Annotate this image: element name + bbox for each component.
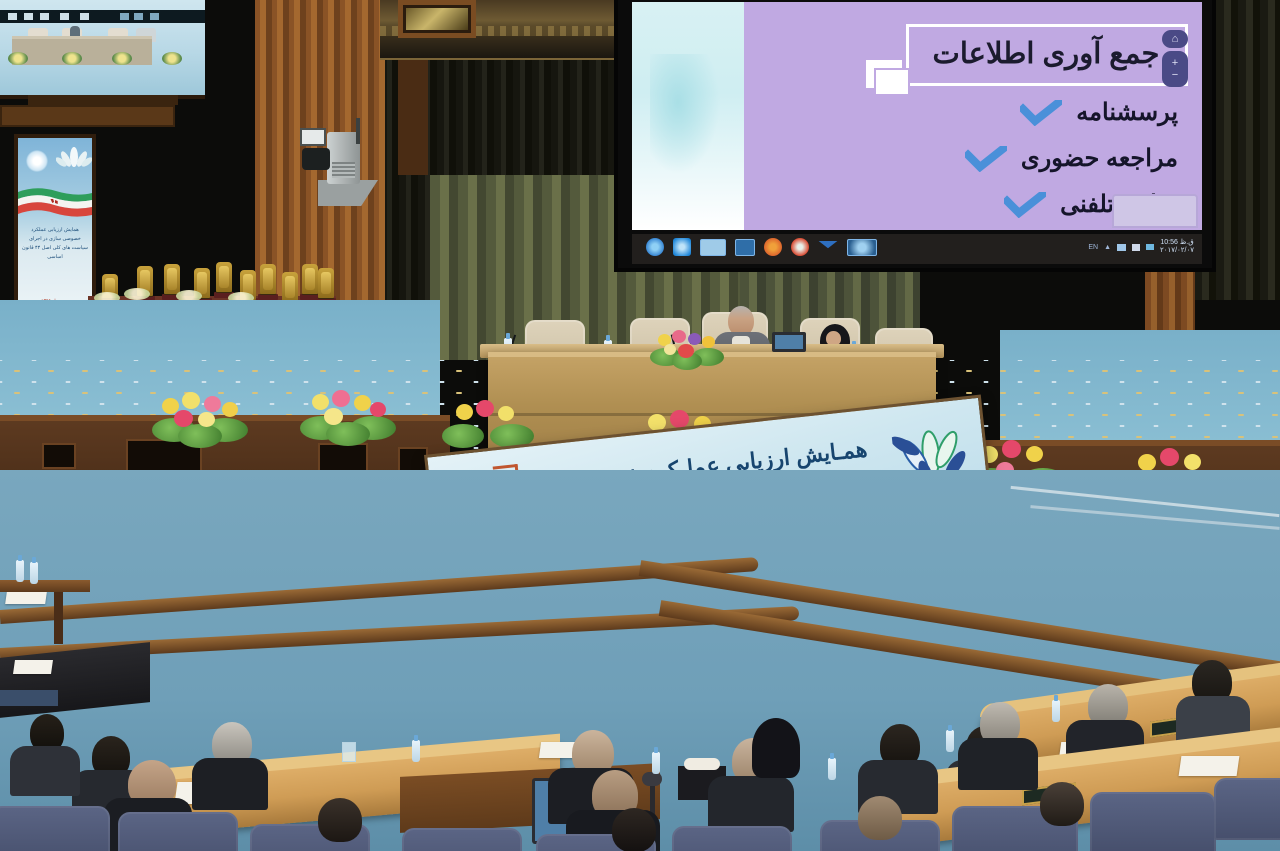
console-device <box>0 690 58 706</box>
audience-seat <box>672 826 792 851</box>
slide-decor-square-2 <box>874 68 910 96</box>
side-table <box>0 580 90 592</box>
rollup-banner: همایش ارزیابی عملکرد خصوصی سازی در اجرای… <box>14 134 96 324</box>
paper <box>13 660 53 674</box>
camera-antenna-icon <box>356 118 360 144</box>
system-tray[interactable]: EN ▲ 10:56 ق.ظ ۲۰۱۷/۰۲/۰۷ <box>1088 239 1194 255</box>
water-bottle <box>828 758 836 780</box>
award-plaques-group <box>88 258 338 306</box>
monitor-stand <box>28 95 178 105</box>
attendee-body <box>10 746 80 796</box>
flower-arrangement <box>650 330 724 370</box>
attendee-body <box>958 738 1038 790</box>
firefox-icon[interactable] <box>764 238 782 256</box>
projection-screen: جمع آوری اطلاعات پرسشنامه مراجعه حضوری ت… <box>618 0 1212 268</box>
rollup-banner-text: همایش ارزیابی عملکرد خصوصی سازی در اجرای… <box>22 226 88 262</box>
slide-bullet-1-label: پرسشنامه <box>1076 98 1178 127</box>
iran-flag-icon <box>18 186 92 220</box>
check-icon <box>965 146 1007 172</box>
slide-bullet-2: مراجعه حضوری <box>965 144 1178 173</box>
presentation-slide: جمع آوری اطلاعات پرسشنامه مراجعه حضوری ت… <box>632 2 1202 230</box>
side-table-leg <box>54 592 63 644</box>
slide-bullet-1: پرسشنامه <box>1020 98 1178 127</box>
home-button[interactable]: ⌂ <box>1162 30 1188 48</box>
award-plaque <box>260 264 276 294</box>
powerpoint-window-icon[interactable] <box>847 239 877 256</box>
chrome-icon[interactable] <box>791 238 809 256</box>
tray-volume-icon[interactable] <box>1146 244 1154 250</box>
media-player-icon[interactable] <box>700 239 726 256</box>
water-bottle <box>652 752 660 774</box>
award-plaque <box>318 268 334 298</box>
camera-lens-icon <box>302 148 330 170</box>
tray-network-icon[interactable] <box>1117 244 1126 251</box>
audience-seat <box>118 812 238 851</box>
mail-icon[interactable] <box>818 241 838 254</box>
viewer-controls[interactable]: ⌂ + − <box>1162 30 1188 88</box>
attendee-head <box>858 796 902 840</box>
water-bottle <box>1052 700 1060 722</box>
tray-language-indicator[interactable]: EN <box>1088 244 1098 251</box>
slide-side-graphic <box>632 2 744 230</box>
award-plaque <box>164 264 180 294</box>
taskbar-app-icons[interactable] <box>646 238 877 256</box>
water-bottle <box>16 560 24 582</box>
award-plaque <box>282 272 298 302</box>
slide-ghost-window <box>1112 194 1198 228</box>
feed-taskbar <box>0 10 205 23</box>
paper <box>5 592 47 604</box>
tray-action-icon[interactable] <box>1132 244 1140 251</box>
attendee-body <box>708 776 794 832</box>
sun-graphic <box>26 150 48 172</box>
tray-chevron-icon[interactable]: ▲ <box>1104 244 1111 251</box>
start-orb-icon[interactable] <box>646 238 664 256</box>
attendee-head <box>1040 782 1084 826</box>
flower-arrangement <box>300 390 396 446</box>
clock-time: 10:56 ق.ظ <box>1160 239 1193 246</box>
zoom-out-button[interactable]: − <box>1172 69 1178 81</box>
water-bottle <box>412 740 420 762</box>
monitor-live-feed <box>0 0 205 95</box>
audience-seat <box>0 806 110 851</box>
laptop <box>772 332 806 352</box>
attendee-head <box>318 798 362 842</box>
wall-picture-frame <box>398 0 476 38</box>
water-bottle <box>30 562 38 584</box>
tissue <box>684 758 720 770</box>
slide-bullet-2-label: مراجعه حضوری <box>1021 144 1178 173</box>
taskbar-clock[interactable]: 10:56 ق.ظ ۲۰۱۷/۰۲/۰۷ <box>1160 239 1194 255</box>
check-icon <box>1020 100 1062 126</box>
paper <box>1179 756 1240 776</box>
internet-explorer-icon[interactable] <box>673 238 691 256</box>
wall-wood-shelf <box>0 105 175 127</box>
audience-seat <box>402 828 522 851</box>
lotus-logo-icon <box>56 146 92 168</box>
audience-seat <box>1214 778 1280 840</box>
clock-date: ۲۰۱۷/۰۲/۰۷ <box>1160 247 1194 254</box>
slide-title: جمع آوری اطلاعات <box>910 28 1182 80</box>
zoom-controls[interactable]: + − <box>1162 51 1188 87</box>
camera-light-icon <box>300 128 326 146</box>
zoom-in-button[interactable]: + <box>1172 57 1178 69</box>
attendee-head <box>612 808 656 851</box>
video-player-icon[interactable] <box>735 239 755 256</box>
award-plaque <box>216 262 232 292</box>
water-bottle <box>946 730 954 752</box>
flower-arrangement <box>152 392 248 448</box>
award-plaque <box>302 264 318 294</box>
microphone-head-icon <box>642 772 662 786</box>
attendee-body <box>192 758 268 810</box>
confidence-monitor <box>0 0 205 99</box>
audience-seat <box>1090 792 1216 851</box>
conference-hall-photo: جمع آوری اطلاعات پرسشنامه مراجعه حضوری ت… <box>0 0 1280 851</box>
drinking-glass <box>342 742 356 762</box>
windows-taskbar[interactable]: EN ▲ 10:56 ق.ظ ۲۰۱۷/۰۲/۰۷ <box>632 234 1202 264</box>
check-icon <box>1004 192 1046 218</box>
attendee-chador <box>752 718 800 778</box>
